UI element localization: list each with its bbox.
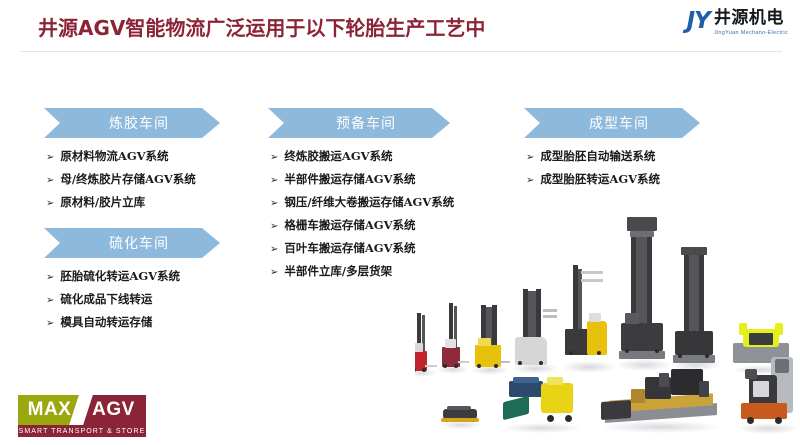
- workshop-group-chengxing: 成型车间 ➢成型胎胚自动输送系统 ➢成型胎胚转运AGV系统: [524, 108, 774, 191]
- maxagv-word-agv-label: AGV: [92, 399, 135, 421]
- arrow-bullet-icon: ➢: [270, 266, 278, 280]
- agv-unit: [415, 313, 435, 375]
- list-item: ➢原材料物流AGV系统: [44, 145, 259, 168]
- list-item-label: 成型胎胚转运AGV系统: [540, 172, 660, 186]
- list-item-label: 百叶车搬运存储AGV系统: [284, 241, 415, 255]
- arrow-bullet-icon: ➢: [270, 220, 278, 234]
- list-item-label: 原材料/胶片立库: [60, 195, 145, 209]
- workshop-item-list: ➢成型胎胚自动输送系统 ➢成型胎胚转运AGV系统: [524, 145, 774, 191]
- arrow-bullet-icon: ➢: [46, 271, 54, 285]
- arrow-bullet-icon: ➢: [46, 197, 54, 211]
- arrow-bullet-icon: ➢: [46, 174, 54, 188]
- workshop-item-list: ➢胚胎硫化转运AGV系统 ➢硫化成品下线转运 ➢模具自动转运存储: [44, 265, 259, 334]
- agv-unit: [619, 217, 667, 375]
- agv-unit: [439, 303, 467, 375]
- list-item-label: 半部件立库/多层货架: [284, 264, 392, 278]
- arrow-bullet-icon: ➢: [270, 151, 278, 165]
- arrow-bullet-icon: ➢: [526, 174, 534, 188]
- maxagv-brand-logo: MAX AGV SMART TRANSPORT & STORE: [18, 395, 146, 437]
- agv-unit: [441, 405, 481, 429]
- arrow-bullet-icon: ➢: [526, 151, 534, 165]
- maxagv-tagline: SMART TRANSPORT & STORE: [18, 425, 146, 437]
- agv-unit: [513, 289, 555, 375]
- corporate-logo: JY 井源机电 JingYuan Mechano-Electric: [687, 9, 788, 45]
- arrow-bullet-icon: ➢: [270, 174, 278, 188]
- corporate-name-cn: 井源机电: [714, 9, 788, 28]
- list-item-label: 原材料物流AGV系统: [60, 149, 168, 163]
- agv-unit: [673, 247, 717, 375]
- agv-product-family-photo: [415, 205, 800, 445]
- list-item-label: 胚胎硫化转运AGV系统: [60, 269, 180, 283]
- agv-unit: [563, 265, 613, 375]
- agv-unit: [473, 305, 507, 375]
- list-item-label: 终炼胶搬运AGV系统: [284, 149, 392, 163]
- arrow-bullet-icon: ➢: [270, 197, 278, 211]
- workshop-banner: 炼胶车间: [44, 108, 220, 138]
- workshop-banner: 成型车间: [524, 108, 700, 138]
- slide-header: 井源AGV智能物流广泛运用于以下轮胎生产工艺中 JY 井源机电 JingYuan…: [0, 0, 800, 52]
- workshop-banner: 预备车间: [268, 108, 450, 138]
- list-item-label: 半部件搬运存储AGV系统: [284, 172, 415, 186]
- workshop-banner: 硫化车间: [44, 228, 220, 258]
- maxagv-tagline-label: SMART TRANSPORT & STORE: [19, 428, 146, 435]
- slide: 井源AGV智能物流广泛运用于以下轮胎生产工艺中 JY 井源机电 JingYuan…: [0, 0, 800, 445]
- list-item-label: 硫化成品下线转运: [60, 292, 152, 306]
- arrow-bullet-icon: ➢: [270, 243, 278, 257]
- arrow-bullet-icon: ➢: [46, 151, 54, 165]
- corporate-name-en: JingYuan Mechano-Electric: [714, 29, 788, 37]
- arrow-bullet-icon: ➢: [46, 317, 54, 331]
- maxagv-wordmark: MAX AGV: [18, 395, 146, 425]
- page-title: 井源AGV智能物流广泛运用于以下轮胎生产工艺中: [38, 12, 485, 41]
- list-item: ➢母/终炼胶片存储AGV系统: [44, 168, 259, 191]
- workshop-group-lianjiao: 炼胶车间 ➢原材料物流AGV系统 ➢母/终炼胶片存储AGV系统 ➢原材料/胶片立…: [44, 108, 259, 214]
- list-item: ➢原材料/胶片立库: [44, 191, 259, 214]
- workshop-group-liuhua: 硫化车间 ➢胚胎硫化转运AGV系统 ➢硫化成品下线转运 ➢模具自动转运存储: [44, 228, 259, 334]
- maxagv-word-max-label: MAX: [28, 399, 72, 421]
- list-item: ➢成型胎胚转运AGV系统: [524, 168, 774, 191]
- list-item: ➢终炼胶搬运AGV系统: [268, 145, 513, 168]
- list-item: ➢模具自动转运存储: [44, 311, 259, 334]
- list-item-label: 母/终炼胶片存储AGV系统: [60, 172, 195, 186]
- arrow-bullet-icon: ➢: [46, 294, 54, 308]
- list-item: ➢硫化成品下线转运: [44, 288, 259, 311]
- list-item: ➢胚胎硫化转运AGV系统: [44, 265, 259, 288]
- agv-unit: [601, 367, 721, 435]
- jy-monogram-icon: JY: [687, 10, 710, 33]
- column-3: 成型车间 ➢成型胎胚自动输送系统 ➢成型胎胚转运AGV系统: [524, 108, 774, 191]
- column-1: 炼胶车间 ➢原材料物流AGV系统 ➢母/终炼胶片存储AGV系统 ➢原材料/胶片立…: [44, 108, 259, 334]
- list-item-label: 成型胎胚自动输送系统: [540, 149, 655, 163]
- maxagv-word-agv: AGV: [81, 395, 146, 425]
- agv-unit: [503, 375, 581, 433]
- agv-unit: [737, 357, 799, 435]
- workshop-item-list: ➢原材料物流AGV系统 ➢母/终炼胶片存储AGV系统 ➢原材料/胶片立库: [44, 145, 259, 214]
- list-item-label: 格栅车搬运存储AGV系统: [284, 218, 415, 232]
- list-item: ➢成型胎胚自动输送系统: [524, 145, 774, 168]
- header-divider: [20, 51, 782, 52]
- list-item: ➢半部件搬运存储AGV系统: [268, 168, 513, 191]
- list-item-label: 模具自动转运存储: [60, 315, 152, 329]
